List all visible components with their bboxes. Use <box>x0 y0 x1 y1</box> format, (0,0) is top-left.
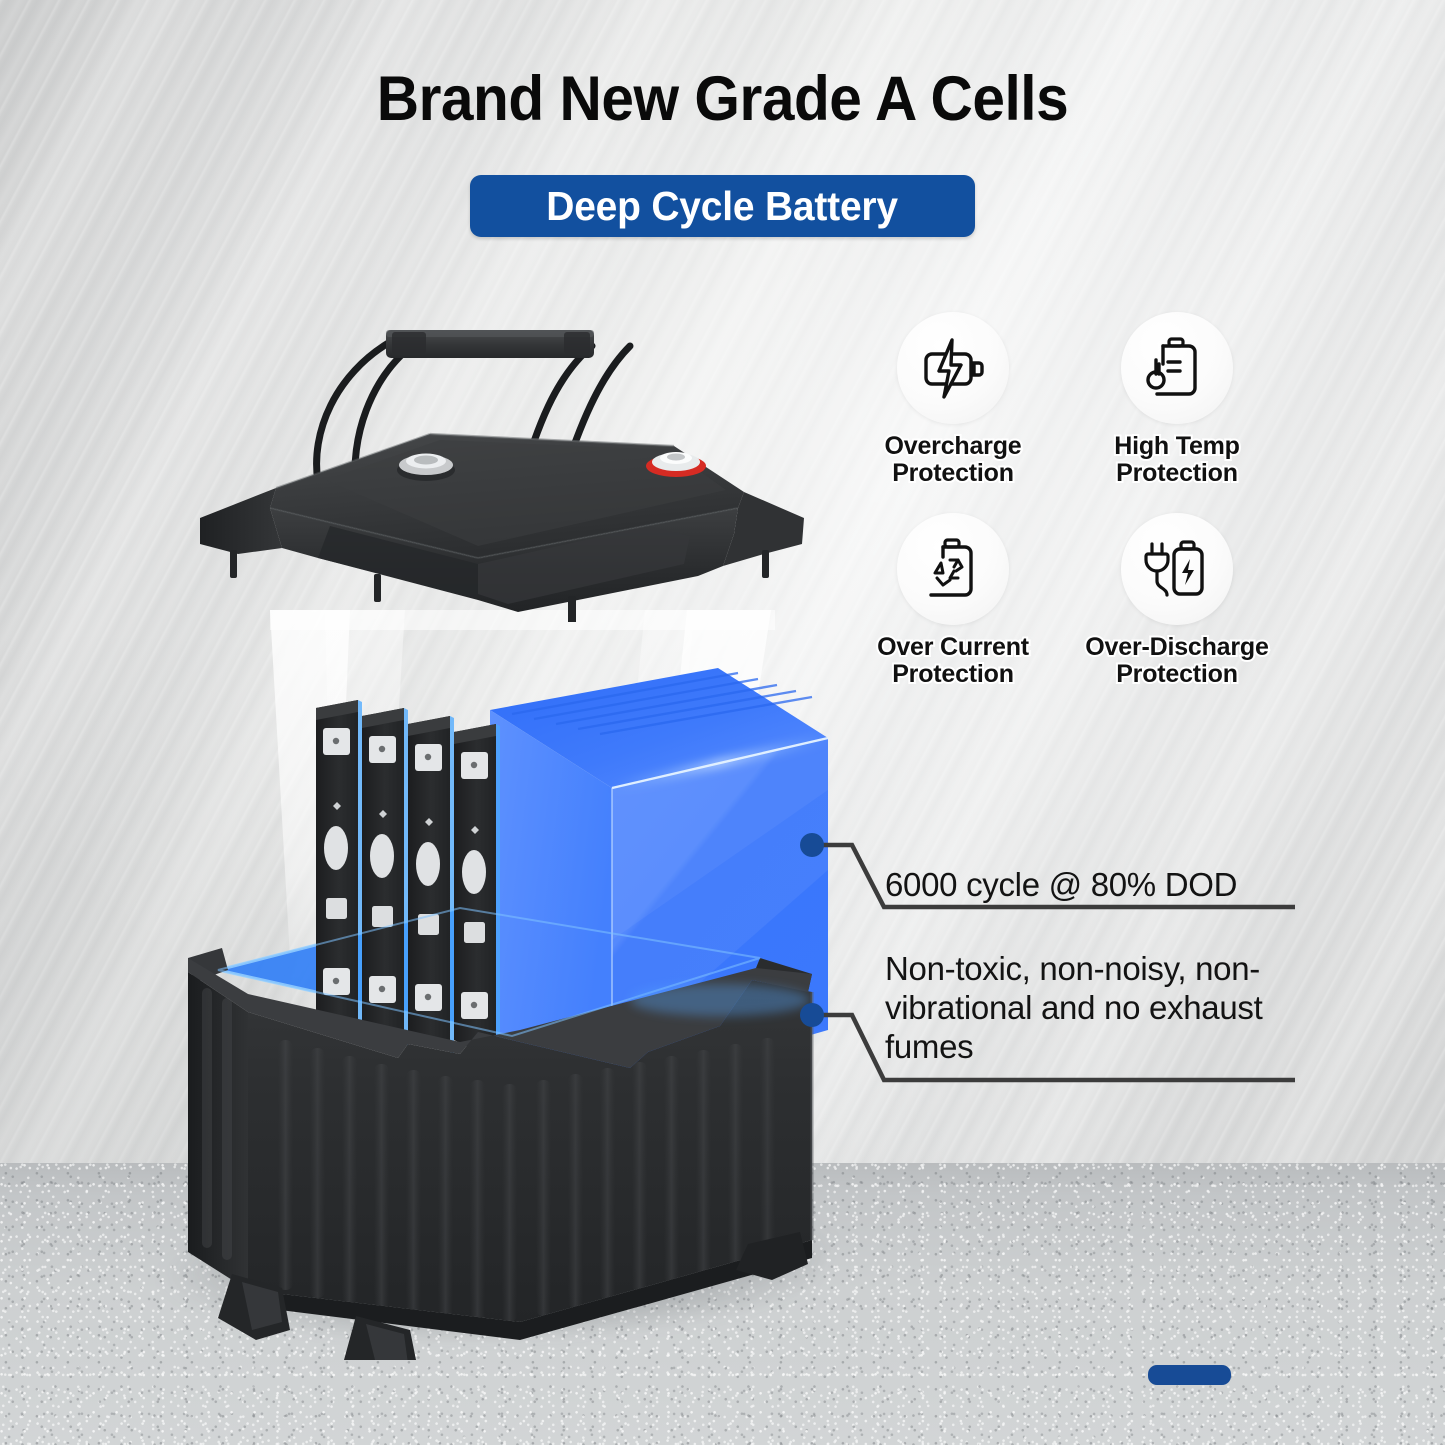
accent-bar <box>1148 1365 1231 1385</box>
subtitle-badge-label: Deep Cycle Battery <box>547 183 899 230</box>
callout-text-1: 6000 cycle @ 80% DOD <box>885 866 1325 905</box>
battery-top-cover <box>178 322 828 622</box>
page-title: Brand New Grade A Cells <box>51 68 1395 131</box>
callout-text-2: Non-toxic, non-noisy, non-vibrational an… <box>885 950 1305 1067</box>
battery-product <box>160 640 840 1360</box>
infographic-canvas: Brand New Grade A Cells Deep Cycle Batte… <box>0 0 1445 1445</box>
prismatic-cell-group <box>316 700 500 1062</box>
feature-overcharge-protection[interactable]: Overcharge Protection <box>855 312 1051 487</box>
feature-label: Over-Discharge Protection <box>1085 634 1268 688</box>
battery-thermometer-icon <box>1141 332 1213 404</box>
feature-grid: Overcharge Protection <box>855 312 1275 688</box>
callout-dot <box>800 1003 824 1027</box>
feature-label: High Temp Protection <box>1114 433 1240 487</box>
feature-icon-circle <box>1121 513 1233 625</box>
prismatic-cell <box>316 700 362 1038</box>
feature-icon-circle <box>1121 312 1233 424</box>
feature-icon-circle <box>897 312 1009 424</box>
carry-handle <box>386 330 594 358</box>
feature-over-current-protection[interactable]: Over Current Protection <box>855 513 1051 688</box>
battery-lightning-icon <box>917 332 989 404</box>
prismatic-cell <box>362 708 408 1046</box>
feature-label: Over Current Protection <box>877 634 1029 688</box>
feature-row-top: Overcharge Protection <box>855 312 1275 487</box>
prismatic-cell <box>408 716 454 1054</box>
callout-dot <box>800 833 824 857</box>
feature-high-temp-protection[interactable]: High Temp Protection <box>1079 312 1275 487</box>
feature-over-discharge-protection[interactable]: Over-Discharge Protection <box>1079 513 1275 688</box>
plug-battery-icon <box>1141 533 1213 605</box>
feature-label: Overcharge Protection <box>885 433 1022 487</box>
battery-recycle-icon <box>917 533 989 605</box>
subtitle-badge: Deep Cycle Battery <box>470 175 975 237</box>
prismatic-cell <box>454 724 500 1062</box>
feature-row-bottom: Over Current Protection Over- <box>855 513 1275 688</box>
feature-icon-circle <box>897 513 1009 625</box>
